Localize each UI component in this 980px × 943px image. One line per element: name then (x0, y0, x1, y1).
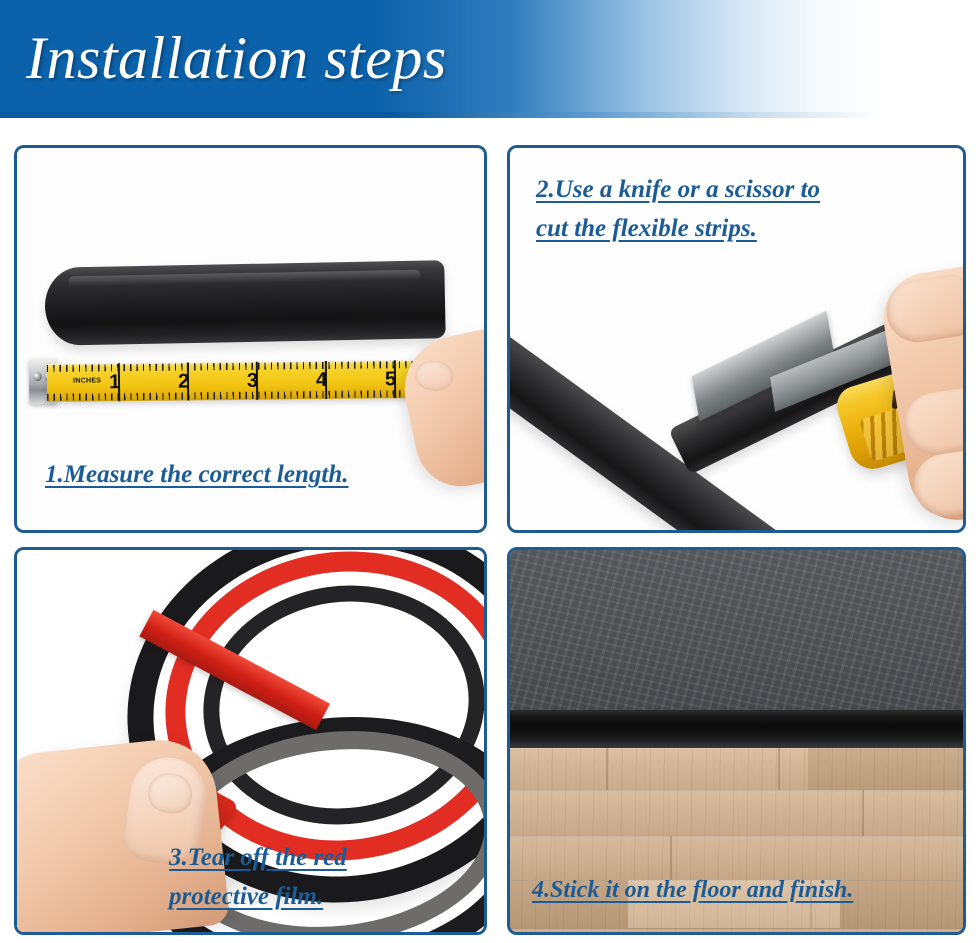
floor-plank (510, 790, 963, 837)
tape-graduations-top (47, 361, 417, 372)
plank-shade (808, 748, 963, 790)
hook-rivet (33, 372, 42, 381)
caption-line: 2.Use a knife or a scissor to (536, 170, 820, 209)
plank-seam (862, 790, 864, 836)
step-1-caption: 1.Measure the correct length. (45, 455, 348, 494)
plank-shade (840, 880, 963, 928)
concrete-wall (510, 550, 963, 710)
flexible-strip (44, 260, 445, 346)
tape-number: 2 (178, 370, 189, 392)
steps-grid: INCHES 1 2 3 4 5 1.Measure the correct l… (14, 145, 966, 935)
caption-line: 1.Measure the correct length. (45, 455, 348, 494)
tape-number: 5 (385, 368, 396, 390)
tape-unit-label: INCHES (73, 377, 101, 384)
step-panel-1: INCHES 1 2 3 4 5 1.Measure the correct l… (14, 145, 487, 533)
caption-line: protective film. (169, 877, 347, 916)
step-3-caption: 3.Tear off the red protective film. (169, 838, 347, 916)
step-panel-4: 4.Stick it on the floor and finish. (507, 547, 966, 935)
step-panel-2: 2.Use a knife or a scissor to cut the fl… (507, 145, 966, 533)
caption-line: 3.Tear off the red (169, 838, 347, 877)
page-title: Installation steps (26, 16, 447, 100)
caption-line: cut the flexible strips. (536, 209, 820, 248)
fingernail (414, 359, 455, 393)
tape-number: 3 (247, 370, 258, 392)
plank-seam (606, 748, 608, 790)
header-banner: Installation steps (0, 0, 980, 118)
caption-line: 4.Stick it on the floor and finish. (532, 871, 853, 910)
banner-underline (0, 112, 980, 118)
plank-seam (778, 748, 780, 790)
tape-number: 1 (109, 371, 120, 393)
tape-measure: INCHES 1 2 3 4 5 (47, 360, 417, 402)
finger (900, 385, 963, 459)
tape-number: 4 (316, 369, 327, 391)
installed-baseboard-trim (510, 710, 963, 748)
step-2-caption: 2.Use a knife or a scissor to cut the fl… (536, 170, 820, 248)
step-panel-3: 3.Tear off the red protective film. (14, 547, 487, 935)
step-4-caption: 4.Stick it on the floor and finish. (532, 871, 853, 910)
